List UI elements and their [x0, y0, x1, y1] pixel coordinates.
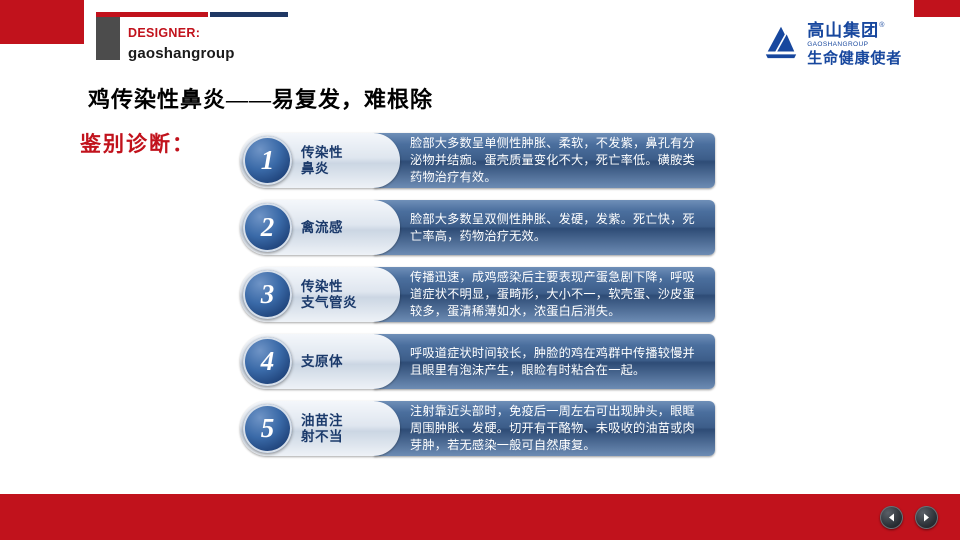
list-item-text: 脸部大多数呈单侧性肿胀、柔软，不发紫，鼻孔有分泌物并结痂。蛋壳质量变化不大，死亡… — [374, 133, 715, 188]
list-item-text: 脸部大多数呈双侧性肿胀、发硬，发紫。死亡快，死亡率高，药物治疗无效。 — [374, 207, 715, 249]
list-item: 3 传染性 支气管炎 传播迅速，成鸡感染后主要表现产蛋急剧下降，呼吸道症状不明显… — [240, 267, 715, 322]
list-item-number: 3 — [243, 270, 292, 319]
list-item-label: 传染性 鼻炎 — [292, 145, 400, 177]
logo-mark-icon — [762, 23, 800, 66]
list-item-body: 脸部大多数呈双侧性肿胀、发硬，发紫。死亡快，死亡率高，药物治疗无效。 — [374, 200, 715, 255]
header-red-block-left-lower — [0, 17, 84, 44]
list-item-number: 2 — [243, 203, 292, 252]
list-item-number: 1 — [243, 136, 292, 185]
section-subtitle: 鉴别诊断： — [80, 128, 195, 158]
list-item-label-line1: 禽流感 — [301, 220, 394, 236]
list-item: 5 油苗注 射不当 注射靠近头部时，免疫后一周左右可出现肿头，眼眶周围肿胀、发硬… — [240, 401, 715, 456]
list-item-label: 传染性 支气管炎 — [292, 279, 400, 311]
list-item-label-line1: 传染性 — [301, 279, 394, 295]
arrow-right-icon — [921, 512, 932, 523]
list-item-label-line2: 鼻炎 — [301, 161, 394, 177]
list-item-label: 禽流感 — [292, 220, 400, 236]
slide-navigation — [880, 506, 938, 529]
logo-company-name: 高山集团 — [807, 21, 879, 40]
list-item: 1 传染性 鼻炎 脸部大多数呈单侧性肿胀、柔软，不发紫，鼻孔有分泌物并结痂。蛋壳… — [240, 133, 715, 188]
logo-company-name-en: GAOSHANGROUP — [807, 42, 902, 49]
list-item-label-line1: 油苗注 — [301, 413, 394, 429]
logo-slogan: 生命健康使者 — [807, 51, 902, 67]
logo-registered-icon: ® — [879, 22, 884, 29]
footer-bar — [0, 494, 960, 540]
header-dark-block — [96, 17, 120, 60]
header-red-block-left — [0, 0, 84, 17]
list-item-header: 3 传染性 支气管炎 — [240, 267, 400, 322]
list-item-body: 呼吸道症状时间较长，肿脸的鸡在鸡群中传播较慢并且眼里有泡沫产生，眼睑有时粘合在一… — [374, 334, 715, 389]
list-item-label-line1: 支原体 — [301, 354, 394, 370]
list-item-header: 5 油苗注 射不当 — [240, 401, 400, 456]
header-navy-rule — [210, 12, 288, 17]
list-item-label: 支原体 — [292, 354, 400, 370]
company-logo: 高山集团® GAOSHANGROUP 生命健康使者 — [762, 22, 902, 66]
list-item-number: 4 — [243, 337, 292, 386]
list-item-number: 5 — [243, 404, 292, 453]
designer-label: DESIGNER: — [128, 26, 200, 40]
list-item: 4 支原体 呼吸道症状时间较长，肿脸的鸡在鸡群中传播较慢并且眼里有泡沫产生，眼睑… — [240, 334, 715, 389]
diagnosis-list: 1 传染性 鼻炎 脸部大多数呈单侧性肿胀、柔软，不发紫，鼻孔有分泌物并结痂。蛋壳… — [240, 133, 715, 468]
list-item-header: 1 传染性 鼻炎 — [240, 133, 400, 188]
list-item-text: 呼吸道症状时间较长，肿脸的鸡在鸡群中传播较慢并且眼里有泡沫产生，眼睑有时粘合在一… — [374, 341, 715, 383]
logo-text: 高山集团® GAOSHANGROUP 生命健康使者 — [807, 22, 902, 66]
list-item-label-line2: 支气管炎 — [301, 295, 394, 311]
list-item-label: 油苗注 射不当 — [292, 413, 400, 445]
list-item-body: 传播迅速，成鸡感染后主要表现产蛋急剧下降，呼吸道症状不明显，蛋畸形，大小不一，软… — [374, 267, 715, 322]
prev-slide-button[interactable] — [880, 506, 903, 529]
list-item-text: 注射靠近头部时，免疫后一周左右可出现肿头，眼眶周围肿胀、发硬。切开有干酪物、未吸… — [374, 401, 715, 456]
slide-header: DESIGNER: gaoshangroup 高山集团® GAOSHANGROU… — [0, 0, 960, 78]
list-item-header: 2 禽流感 — [240, 200, 400, 255]
list-item-text: 传播迅速，成鸡感染后主要表现产蛋急剧下降，呼吸道症状不明显，蛋畸形，大小不一，软… — [374, 267, 715, 322]
arrow-left-icon — [886, 512, 897, 523]
list-item-label-line2: 射不当 — [301, 429, 394, 445]
list-item: 2 禽流感 脸部大多数呈双侧性肿胀、发硬，发紫。死亡快，死亡率高，药物治疗无效。 — [240, 200, 715, 255]
page-title: 鸡传染性鼻炎——易复发，难根除 — [88, 82, 433, 114]
list-item-body: 脸部大多数呈单侧性肿胀、柔软，不发紫，鼻孔有分泌物并结痂。蛋壳质量变化不大，死亡… — [374, 133, 715, 188]
list-item-header: 4 支原体 — [240, 334, 400, 389]
designer-name: gaoshangroup — [128, 45, 235, 62]
list-item-body: 注射靠近头部时，免疫后一周左右可出现肿头，眼眶周围肿胀、发硬。切开有干酪物、未吸… — [374, 401, 715, 456]
header-red-block-right — [914, 0, 960, 17]
next-slide-button[interactable] — [915, 506, 938, 529]
list-item-label-line1: 传染性 — [301, 145, 394, 161]
